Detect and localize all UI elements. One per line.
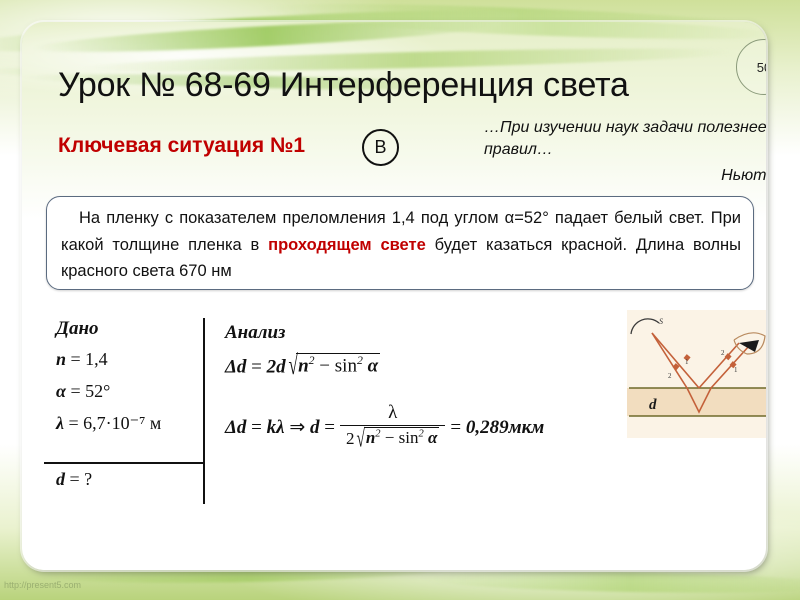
equation-delta-d: Δd = 2d√n2 − sin2 α: [225, 354, 380, 378]
diagram-background: [627, 310, 766, 438]
eq2-fraction: λ 2√n2 − sin2 α: [340, 402, 445, 449]
label-source: S: [659, 317, 663, 326]
given-row: n = 1,4: [56, 349, 206, 370]
eq2-numerator: λ: [340, 402, 445, 425]
given-row: α = 52°: [56, 381, 206, 402]
diagram-svg: S 1 2 2 1 d: [627, 310, 766, 438]
eq2-sin: sin: [399, 428, 419, 447]
thin-film-interference-diagram: S 1 2 2 1 d: [627, 310, 766, 438]
panel-streak: [32, 22, 502, 58]
eq2-minus: −: [385, 428, 395, 447]
given-divider-line: [44, 462, 204, 464]
eq1-radicand: n2 − sin2 α: [296, 353, 380, 377]
equation-thickness: Δd = kλ ⇒ d = λ 2√n2 − sin2 α = 0,289мкм: [225, 404, 544, 451]
given-row: λ = 6,7·10⁻⁷ м: [56, 413, 206, 434]
label-ray1-right: 1: [734, 366, 738, 374]
key-situation-marker-letter: В: [374, 137, 386, 158]
eq2-n-exp: 2: [375, 428, 380, 439]
given-unknown-symbol: d: [56, 469, 65, 489]
label-ray2-right: 2: [721, 349, 725, 357]
label-ray2-upper: 2: [668, 372, 672, 380]
eq2-den-coef: 2: [346, 429, 355, 448]
eq2-implies-icon: ⇒: [289, 416, 305, 439]
eq2-equals-2: =: [324, 417, 335, 439]
eq2-result: 0,289мкм: [466, 417, 544, 439]
key-situation-label: Ключевая ситуация №1: [58, 134, 305, 158]
eq2-denominator: 2√n2 − sin2 α: [340, 425, 445, 449]
eq1-equals: =: [251, 356, 262, 377]
eq1-n-exp: 2: [309, 354, 315, 367]
analysis-title: Анализ: [225, 322, 625, 344]
film-layer: [627, 388, 766, 416]
background-streak: [420, 568, 800, 595]
slide-number-text: 50: [757, 60, 766, 75]
given-title: Дано: [56, 318, 206, 340]
page-title: Урок № 68-69 Интерференция света: [58, 66, 629, 105]
quote-author: Ньютон: [484, 167, 766, 185]
given-block: Дано n = 1,4 α = 52° λ = 6,7·10⁻⁷ м: [56, 318, 206, 445]
eq1-coefficient: 2d: [267, 356, 286, 377]
eq2-klambda: kλ: [267, 417, 285, 439]
key-situation-marker: В: [362, 129, 399, 166]
given-value: = 52°: [70, 381, 110, 401]
problem-statement-text: На пленку с показателем преломления 1,4 …: [61, 205, 741, 285]
panel-streak: [322, 22, 766, 44]
label-thickness: d: [649, 397, 657, 413]
orb-gloss-highlight: [765, 564, 766, 570]
given-value: = 1,4: [71, 349, 108, 369]
eq2-n: n: [366, 428, 375, 447]
eq1-sin-exp: 2: [357, 354, 363, 367]
eq2-sin-exp: 2: [418, 428, 423, 439]
eq2-d: d: [310, 417, 320, 439]
given-symbol: λ: [56, 413, 64, 433]
problem-text-highlight: проходящем свете: [268, 236, 426, 254]
eq1-alpha: α: [368, 355, 379, 376]
eq2-alpha: α: [428, 428, 437, 447]
given-unknown-value: = ?: [70, 469, 93, 489]
label-ray1-upper: 1: [685, 358, 689, 366]
eq2-sqrt: √n2 − sin2 α: [354, 428, 439, 449]
analysis-block: Анализ Δd = 2d√n2 − sin2 α Δd = kλ ⇒ d =…: [225, 322, 625, 358]
presentation-slide: Урок № 68-69 Интерференция света 50 Ключ…: [0, 0, 800, 600]
eq1-n: n: [298, 355, 309, 376]
watermark-text: http://present5.com: [4, 580, 154, 594]
vertical-divider: [203, 318, 205, 504]
eq2-equals-3: =: [450, 417, 461, 439]
quote-text: …При изучении наук задачи полезнее прави…: [484, 117, 766, 161]
eq1-lhs: Δd: [225, 356, 246, 377]
given-value: = 6,7·10⁻⁷ м: [69, 413, 162, 433]
given-unknown-row: d = ?: [56, 469, 92, 490]
slide-content-panel: Урок № 68-69 Интерференция света 50 Ключ…: [22, 22, 766, 570]
given-symbol: n: [56, 349, 66, 369]
eq1-sin: sin: [335, 355, 357, 376]
problem-statement-box: На пленку с показателем преломления 1,4 …: [46, 196, 754, 290]
eq1-minus: −: [319, 355, 330, 376]
eq2-lhs: Δd: [225, 417, 246, 439]
eq2-radicand: n2 − sin2 α: [364, 427, 440, 448]
eq1-sqrt: √n2 − sin2 α: [286, 354, 380, 378]
given-symbol: α: [56, 381, 66, 401]
eq2-equals-1: =: [251, 417, 262, 439]
